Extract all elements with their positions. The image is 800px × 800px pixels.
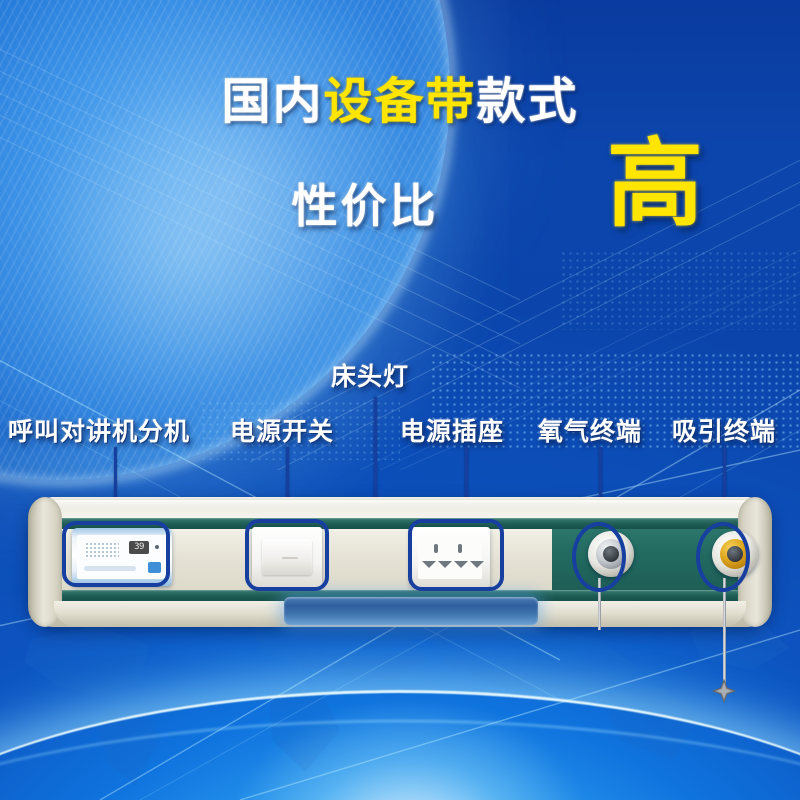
callout-label-power-switch: 电源开关 bbox=[230, 412, 334, 448]
highlight-box-suction bbox=[696, 522, 750, 592]
headline-part-2: 款式 bbox=[477, 73, 579, 130]
headline-big-character: 高 bbox=[607, 136, 703, 232]
suction-hanging-chain bbox=[723, 578, 726, 686]
horizon-hotspot bbox=[230, 700, 590, 800]
headline-line-1: 国内设备带款式 bbox=[0, 76, 800, 127]
headline-block: 国内设备带款式 bbox=[0, 76, 800, 127]
headline-part-1: 国内 bbox=[221, 73, 323, 130]
callout-label-suction: 吸引终端 bbox=[672, 412, 776, 448]
halftone-dots-upper-right bbox=[560, 250, 800, 330]
highlight-box-power-socket bbox=[408, 519, 504, 591]
headline-line-2: 性价比 bbox=[292, 170, 439, 236]
promo-banner: 国内设备带款式 性价比 高 呼叫对讲机分机 电源开关 床头灯 电源插座 氧气终端… bbox=[0, 0, 800, 800]
callout-label-bed-lamp: 床头灯 bbox=[331, 357, 409, 393]
callout-label-oxygen: 氧气终端 bbox=[538, 412, 642, 448]
highlight-box-intercom bbox=[62, 521, 170, 587]
headline-highlight: 设备带 bbox=[323, 73, 476, 130]
highlight-box-power-switch bbox=[245, 519, 329, 591]
callout-label-power-socket: 电源插座 bbox=[400, 412, 504, 448]
highlight-box-oxygen bbox=[572, 522, 626, 592]
callout-label-intercom: 呼叫对讲机分机 bbox=[8, 412, 190, 448]
chain-pendant-icon bbox=[711, 678, 737, 704]
bed-lamp-strip[interactable] bbox=[284, 597, 538, 625]
unit-top-highlight bbox=[38, 500, 762, 509]
